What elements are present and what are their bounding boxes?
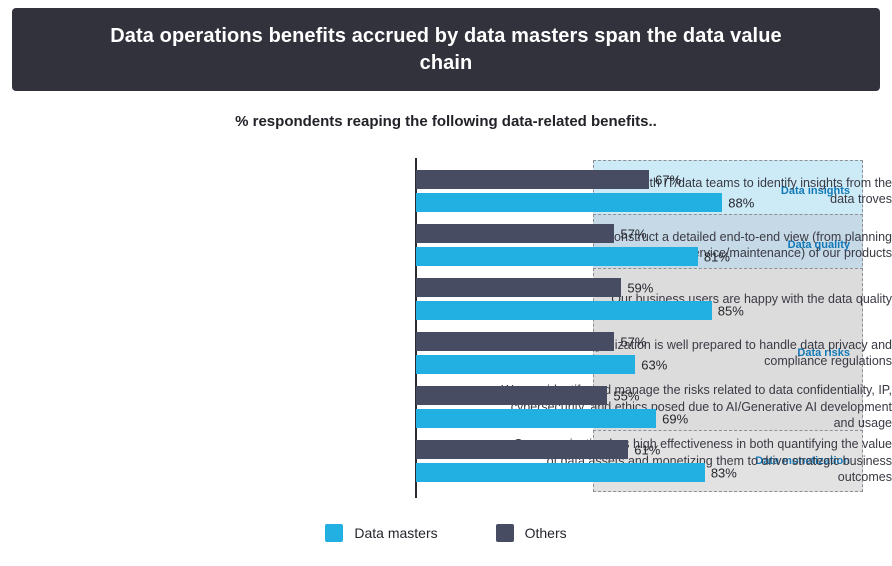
bar-others[interactable] xyxy=(416,278,621,297)
legend-swatch-data-masters xyxy=(325,524,343,542)
legend-item[interactable]: Data masters xyxy=(325,524,437,542)
bar-value-label: 81% xyxy=(698,249,730,264)
bar-row: 59% xyxy=(416,278,764,297)
bar-row: 88% xyxy=(416,193,764,212)
bar-value-label: 61% xyxy=(628,442,660,457)
legend-item[interactable]: Others xyxy=(496,524,567,542)
chart-root: Data operations benefits accrued by data… xyxy=(0,0,892,566)
bar-value-label: 55% xyxy=(607,388,639,403)
bar-others[interactable] xyxy=(416,170,649,189)
bar-row: 83% xyxy=(416,463,764,482)
bar-value-label: 59% xyxy=(621,280,653,295)
bar-others[interactable] xyxy=(416,440,628,459)
bar-others[interactable] xyxy=(416,224,614,243)
bar-row: 57% xyxy=(416,332,764,351)
bar-value-label: 85% xyxy=(712,303,744,318)
chart-subtitle: % respondents reaping the following data… xyxy=(0,113,892,130)
legend-label: Data masters xyxy=(354,525,437,541)
bar-data-masters[interactable] xyxy=(416,463,705,482)
bar-others[interactable] xyxy=(416,332,614,351)
bar-data-masters[interactable] xyxy=(416,301,712,320)
bar-value-label: 67% xyxy=(649,172,681,187)
bar-value-label: 63% xyxy=(635,357,667,372)
bar-data-masters[interactable] xyxy=(416,247,698,266)
bar-data-masters[interactable] xyxy=(416,193,722,212)
bar-value-label: 57% xyxy=(614,334,646,349)
bar-value-label: 57% xyxy=(614,226,646,241)
bar-row: 55% xyxy=(416,386,764,405)
legend-swatch-others xyxy=(496,524,514,542)
bar-others[interactable] xyxy=(416,386,607,405)
bar-data-masters[interactable] xyxy=(416,409,656,428)
bar-row: 63% xyxy=(416,355,764,374)
plot-area: Data insightsData qualityData risksData … xyxy=(0,158,892,503)
legend-label: Others xyxy=(525,525,567,541)
bar-value-label: 88% xyxy=(722,195,754,210)
bar-data-masters[interactable] xyxy=(416,355,635,374)
bar-row: 69% xyxy=(416,409,764,428)
bar-row: 61% xyxy=(416,440,764,459)
bar-row: 81% xyxy=(416,247,764,266)
bar-row: 67% xyxy=(416,170,764,189)
chart-legend: Data mastersOthers xyxy=(0,524,892,542)
bar-row: 85% xyxy=(416,301,764,320)
chart-title: Data operations benefits accrued by data… xyxy=(96,23,796,77)
bar-value-label: 83% xyxy=(705,465,737,480)
chart-header-band: Data operations benefits accrued by data… xyxy=(12,8,880,91)
bar-value-label: 69% xyxy=(656,411,688,426)
bar-row: 57% xyxy=(416,224,764,243)
